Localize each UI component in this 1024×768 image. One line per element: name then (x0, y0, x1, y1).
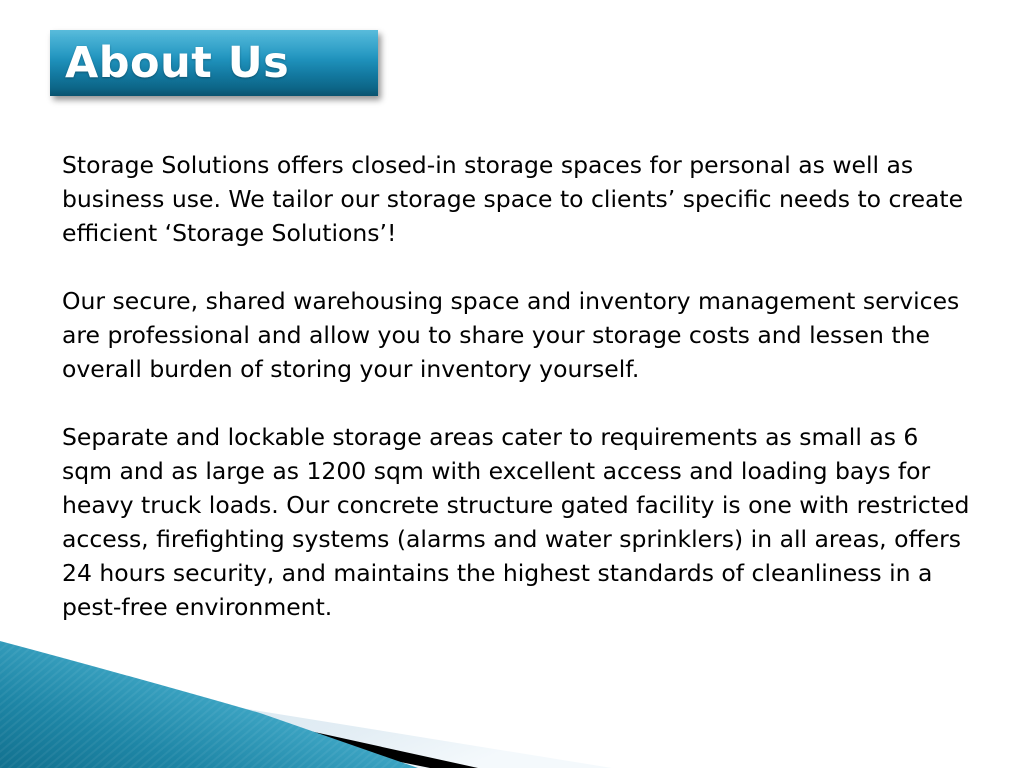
paragraph-1: Storage Solutions offers closed-in stora… (62, 148, 974, 250)
deco-teal-triangle (0, 641, 418, 768)
deco-black-stripe (0, 663, 478, 768)
paragraph-2: Our secure, shared warehousing space and… (62, 284, 974, 386)
page-title: About Us (65, 33, 289, 93)
body-content: Storage Solutions offers closed-in stora… (62, 148, 974, 624)
title-banner: About Us (50, 30, 378, 96)
deco-teal-texture (0, 641, 418, 768)
corner-decoration (0, 633, 660, 768)
paragraph-3: Separate and lockable storage areas cate… (62, 420, 974, 624)
deco-pale-band (0, 669, 612, 768)
slide-canvas: About Us Storage Solutions offers closed… (0, 0, 1024, 768)
